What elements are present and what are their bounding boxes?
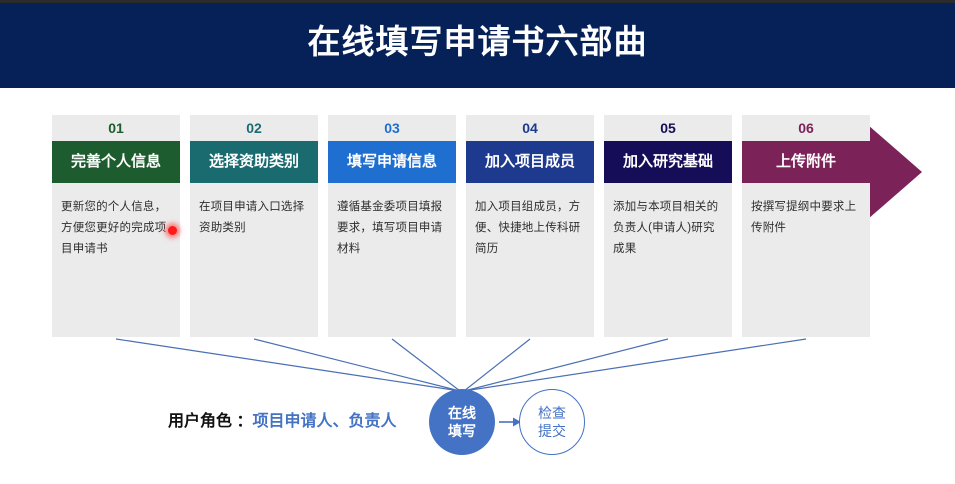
step-card-04[interactable]: 04 加入项目成员 加入项目组成员，方便、快捷地上传科研简历 [466, 115, 594, 337]
step-title: 填写申请信息 [328, 141, 456, 183]
step-number: 04 [466, 115, 594, 141]
circle-online-fill-line2: 填写 [448, 422, 476, 440]
step-number: 02 [190, 115, 318, 141]
step-number: 01 [52, 115, 180, 141]
step-title: 加入研究基础 [604, 141, 732, 183]
circle-online-fill-line1: 在线 [448, 404, 476, 422]
step-number: 05 [604, 115, 732, 141]
step-card-05[interactable]: 05 加入研究基础 添加与本项目相关的负责人(申请人)研究成果 [604, 115, 732, 337]
step-number: 06 [742, 115, 870, 141]
user-role-label: 用户角色 ： [168, 413, 252, 430]
step-card-03[interactable]: 03 填写申请信息 遵循基金委项目填报要求，填写项目申请材料 [328, 115, 456, 337]
circle-online-fill[interactable]: 在线 填写 [429, 389, 495, 455]
step-title: 加入项目成员 [466, 141, 594, 183]
circle-check-submit-line2: 提交 [538, 422, 566, 440]
step-card-01[interactable]: 01 完善个人信息 更新您的个人信息，方便您更好的完成项目申请书 [52, 115, 180, 337]
step-description: 遵循基金委项目填报要求，填写项目申请材料 [328, 183, 456, 260]
step-description: 按撰写提纲中要求上传附件 [742, 183, 870, 239]
cursor-highlight-marker [168, 226, 177, 235]
user-role-value: 项目申请人、负责人 [252, 413, 396, 430]
user-role-line: 用户角色 ：项目申请人、负责人 [168, 411, 396, 433]
step-title: 上传附件 [742, 141, 870, 183]
circle-check-submit[interactable]: 检查 提交 [519, 389, 585, 455]
step-description: 加入项目组成员，方便、快捷地上传科研简历 [466, 183, 594, 260]
step-card-02[interactable]: 02 选择资助类别 在项目申请入口选择资助类别 [190, 115, 318, 337]
circle-check-submit-line1: 检查 [538, 404, 566, 422]
step-description: 添加与本项目相关的负责人(申请人)研究成果 [604, 183, 732, 260]
step-title: 选择资助类别 [190, 141, 318, 183]
step-description: 更新您的个人信息，方便您更好的完成项目申请书 [52, 183, 180, 260]
process-arrow-head [868, 125, 922, 219]
step-description: 在项目申请入口选择资助类别 [190, 183, 318, 239]
step-card-06[interactable]: 06 上传附件 按撰写提纲中要求上传附件 [742, 115, 870, 337]
page-title: 在线填写申请书六部曲 [0, 18, 955, 66]
step-title: 完善个人信息 [52, 141, 180, 183]
step-number: 03 [328, 115, 456, 141]
